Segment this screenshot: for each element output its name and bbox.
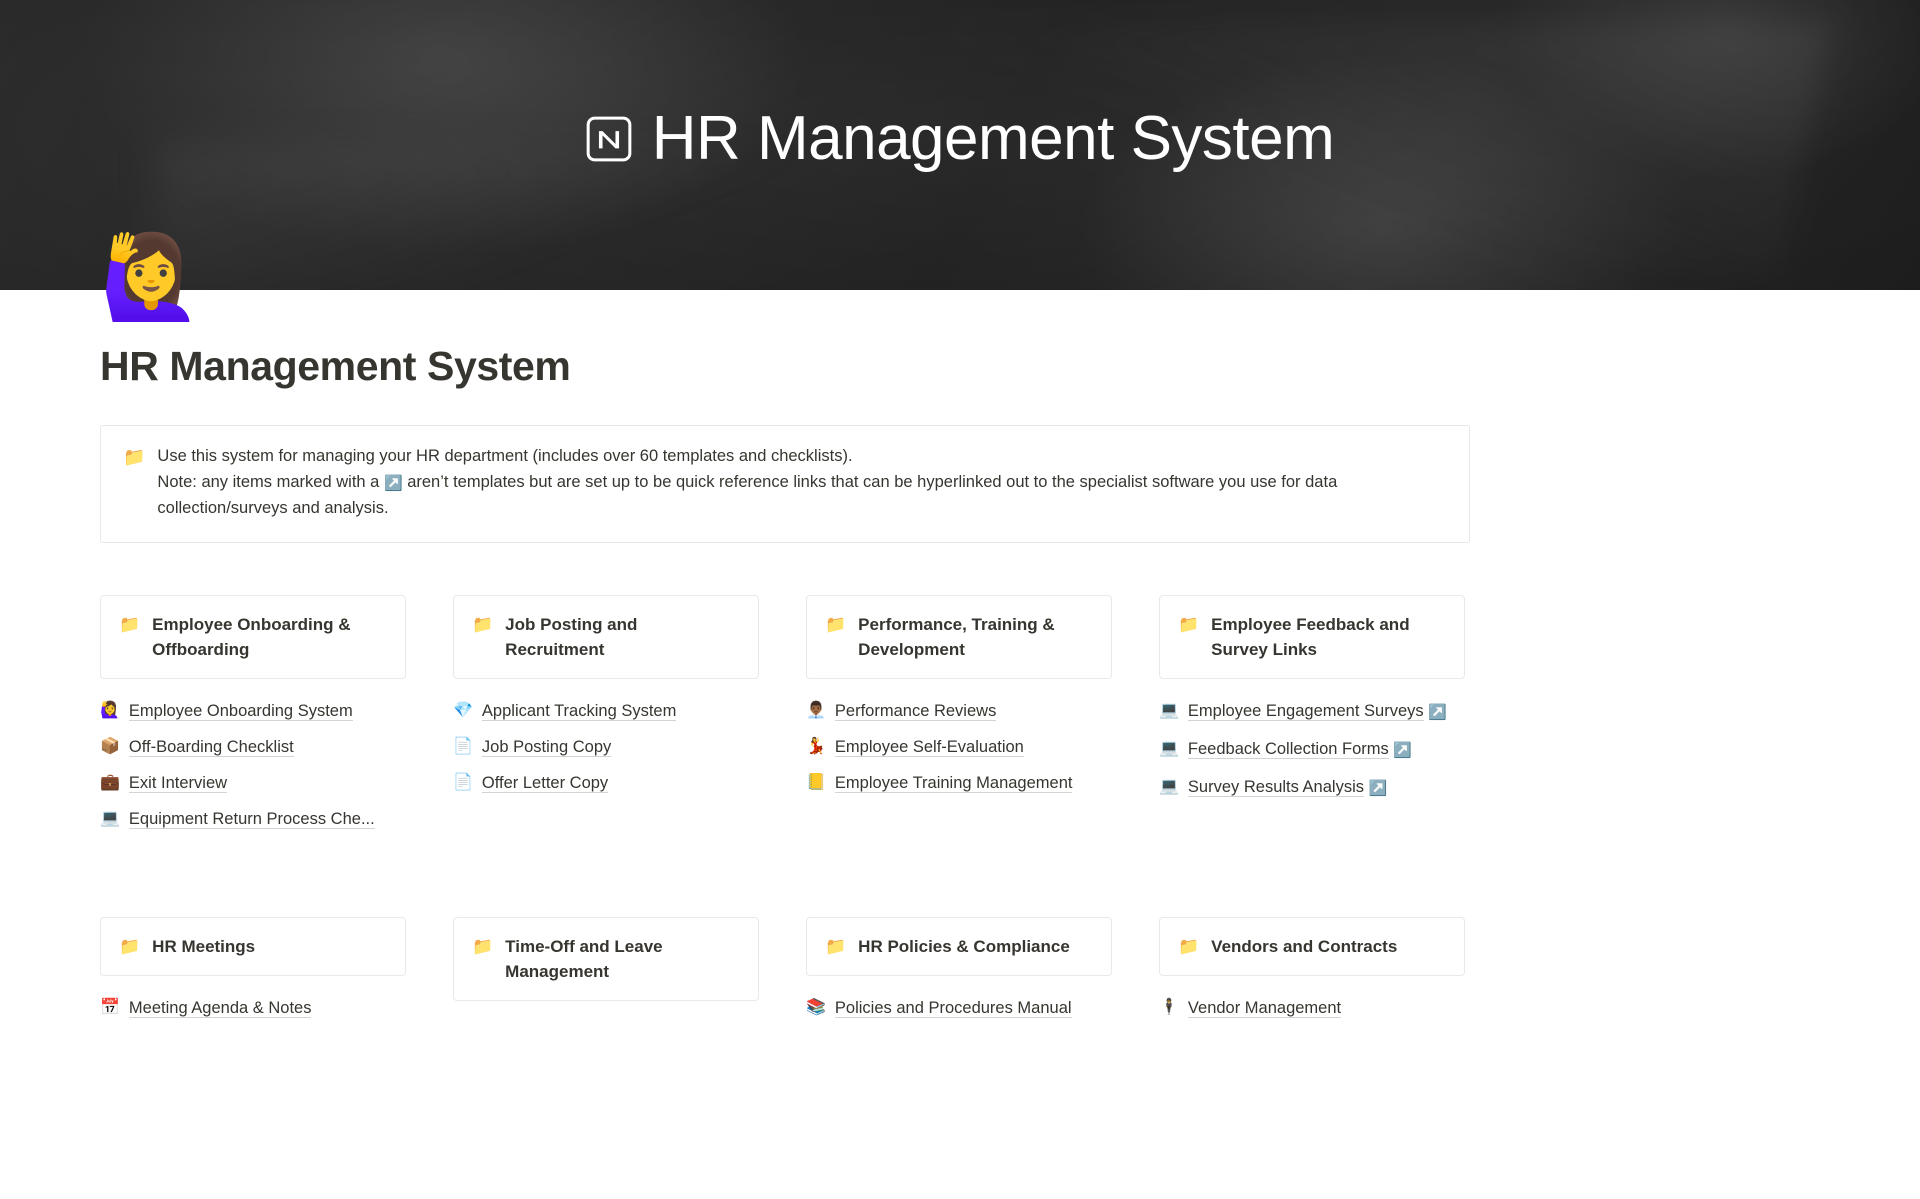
- link-label-holder: Equipment Return Process Che...: [129, 807, 375, 831]
- section-card-title: Job Posting and Recruitment: [505, 612, 740, 662]
- section-column: 📁Vendors and Contracts🕴️Vendor Managemen…: [1159, 917, 1465, 1021]
- up-right-arrow-emoji: ↗️: [1393, 742, 1412, 759]
- section-column: 📁Time-Off and Leave Management: [453, 917, 759, 1021]
- page-cover[interactable]: HR Management System: [0, 0, 1920, 290]
- section-link-list: 🙋‍♀️Employee Onboarding System📦Off-Board…: [100, 699, 406, 831]
- list-item[interactable]: 💼Exit Interview: [100, 771, 406, 795]
- cover-title: HR Management System: [652, 108, 1335, 170]
- gem-emoji: 💎: [453, 699, 473, 723]
- list-item[interactable]: 👨🏾‍💼Performance Reviews: [806, 699, 1112, 723]
- cover-title-group: HR Management System: [0, 108, 1920, 170]
- laptop-emoji: 💻: [1159, 737, 1179, 761]
- link-label-holder: Employee Training Management: [835, 771, 1073, 795]
- intro-callout: 📁 Use this system for managing your HR d…: [100, 425, 1470, 543]
- briefcase-emoji: 💼: [100, 771, 120, 795]
- link-label-holder: Offer Letter Copy: [482, 771, 608, 795]
- callout-text: Use this system for managing your HR dep…: [157, 444, 1447, 522]
- list-item[interactable]: 💻Equipment Return Process Che...: [100, 807, 406, 831]
- page-link[interactable]: Off-Boarding Checklist: [129, 738, 294, 757]
- books-emoji: 📚: [806, 996, 826, 1020]
- section-card[interactable]: 📁HR Policies & Compliance: [806, 917, 1112, 976]
- grid-row-spacer: [100, 831, 1465, 917]
- list-item[interactable]: 📒Employee Training Management: [806, 771, 1112, 795]
- page-link[interactable]: Performance Reviews: [835, 702, 996, 721]
- list-item[interactable]: 📄Job Posting Copy: [453, 735, 759, 759]
- page-link[interactable]: Exit Interview: [129, 774, 227, 793]
- section-card-title: HR Meetings: [152, 934, 255, 959]
- notion-page: HR Management System 🙋‍♀️ HR Management …: [0, 0, 1920, 1199]
- page-link[interactable]: Applicant Tracking System: [482, 702, 676, 721]
- link-label-holder: Applicant Tracking System: [482, 699, 676, 723]
- dancer-emoji: 💃: [806, 735, 826, 759]
- link-label-holder: Feedback Collection Forms ↗️: [1188, 737, 1412, 763]
- ledger-emoji: 📒: [806, 771, 826, 795]
- section-column: 📁Employee Feedback and Survey Links💻Empl…: [1159, 595, 1465, 831]
- link-label-holder: Exit Interview: [129, 771, 227, 795]
- list-item[interactable]: 🙋‍♀️Employee Onboarding System: [100, 699, 406, 723]
- link-label-holder: Off-Boarding Checklist: [129, 735, 294, 759]
- section-card[interactable]: 📁Performance, Training & Development: [806, 595, 1112, 679]
- section-card-title: Performance, Training & Development: [858, 612, 1093, 662]
- list-item[interactable]: 💻Employee Engagement Surveys ↗️: [1159, 699, 1465, 725]
- up-right-arrow-emoji: ↗️: [1369, 780, 1388, 797]
- laptop-emoji: 💻: [1159, 775, 1179, 799]
- page-link[interactable]: Offer Letter Copy: [482, 774, 608, 793]
- laptop-emoji: 💻: [100, 807, 120, 831]
- link-label-holder: Performance Reviews: [835, 699, 996, 723]
- link-label-holder: Meeting Agenda & Notes: [129, 996, 312, 1020]
- link-label-holder: Employee Onboarding System: [129, 699, 353, 723]
- link-label-holder: Policies and Procedures Manual: [835, 996, 1072, 1020]
- package-emoji: 📦: [100, 735, 120, 759]
- link-label-holder: Survey Results Analysis ↗️: [1188, 775, 1387, 801]
- section-link-list: 🕴️Vendor Management: [1159, 996, 1465, 1020]
- page-link[interactable]: Employee Training Management: [835, 774, 1073, 793]
- folder-emoji: 📁: [472, 612, 493, 637]
- section-card[interactable]: 📁Vendors and Contracts: [1159, 917, 1465, 976]
- page-link[interactable]: Vendor Management: [1188, 999, 1341, 1018]
- section-link-list: 💻Employee Engagement Surveys ↗️💻Feedback…: [1159, 699, 1465, 801]
- link-label-holder: Employee Self-Evaluation: [835, 735, 1024, 759]
- list-item[interactable]: 📄Offer Letter Copy: [453, 771, 759, 795]
- page-link[interactable]: Survey Results Analysis: [1188, 778, 1364, 797]
- callout-line-1: Use this system for managing your HR dep…: [157, 444, 1447, 470]
- folder-emoji: 📁: [1178, 612, 1199, 637]
- list-item[interactable]: 📅Meeting Agenda & Notes: [100, 996, 406, 1020]
- section-card-title: Employee Onboarding & Offboarding: [152, 612, 387, 662]
- section-card[interactable]: 📁HR Meetings: [100, 917, 406, 976]
- page-link[interactable]: Feedback Collection Forms: [1188, 740, 1389, 759]
- section-column: 📁Job Posting and Recruitment💎Applicant T…: [453, 595, 759, 831]
- page-link[interactable]: Employee Self-Evaluation: [835, 738, 1024, 757]
- folder-emoji: 📁: [123, 444, 145, 470]
- section-grid: 📁Employee Onboarding & Offboarding🙋‍♀️Em…: [100, 595, 1470, 1021]
- up-right-arrow-emoji: ↗️: [1428, 704, 1447, 721]
- list-item[interactable]: 💻Survey Results Analysis ↗️: [1159, 775, 1465, 801]
- callout-note-prefix: Note: any items marked with a: [157, 473, 384, 491]
- link-label-holder: Job Posting Copy: [482, 735, 611, 759]
- office-worker-emoji: 👨🏾‍💼: [806, 699, 826, 723]
- laptop-emoji: 💻: [1159, 699, 1179, 723]
- list-item[interactable]: 📦Off-Boarding Checklist: [100, 735, 406, 759]
- section-column: 📁HR Meetings📅Meeting Agenda & Notes: [100, 917, 406, 1021]
- section-link-list: 👨🏾‍💼Performance Reviews💃Employee Self-Ev…: [806, 699, 1112, 795]
- folder-emoji: 📁: [119, 934, 140, 959]
- folder-emoji: 📁: [119, 612, 140, 637]
- folder-emoji: 📁: [825, 934, 846, 959]
- folder-emoji: 📁: [825, 612, 846, 637]
- folder-emoji: 📁: [1178, 934, 1199, 959]
- page-link[interactable]: Meeting Agenda & Notes: [129, 999, 312, 1018]
- page-link[interactable]: Job Posting Copy: [482, 738, 611, 757]
- list-item[interactable]: 🕴️Vendor Management: [1159, 996, 1465, 1020]
- page-emoji: 📄: [453, 771, 473, 795]
- calendar-emoji: 📅: [100, 996, 120, 1020]
- page-link[interactable]: Policies and Procedures Manual: [835, 999, 1072, 1018]
- folder-emoji: 📁: [472, 934, 493, 959]
- person-raising-hand-emoji: 🙋‍♀️: [100, 699, 120, 723]
- list-item[interactable]: 💎Applicant Tracking System: [453, 699, 759, 723]
- section-card-title: Employee Feedback and Survey Links: [1211, 612, 1446, 662]
- section-card[interactable]: 📁Job Posting and Recruitment: [453, 595, 759, 679]
- section-card-title: Time-Off and Leave Management: [505, 934, 740, 984]
- section-column: 📁Performance, Training & Development👨🏾‍💼…: [806, 595, 1112, 831]
- link-label-holder: Vendor Management: [1188, 996, 1341, 1020]
- section-link-list: 📚Policies and Procedures Manual: [806, 996, 1112, 1020]
- list-item[interactable]: 📚Policies and Procedures Manual: [806, 996, 1112, 1020]
- list-item[interactable]: 💻Feedback Collection Forms ↗️: [1159, 737, 1465, 763]
- page-title: HR Management System: [100, 342, 1470, 391]
- page-content: HR Management System 📁 Use this system f…: [0, 342, 1570, 1021]
- section-card[interactable]: 📁Employee Feedback and Survey Links: [1159, 595, 1465, 679]
- page-link[interactable]: Employee Engagement Surveys: [1188, 702, 1424, 721]
- section-link-list: 📅Meeting Agenda & Notes: [100, 996, 406, 1020]
- notion-logo-icon: [586, 116, 632, 162]
- section-card-title: HR Policies & Compliance: [858, 934, 1070, 959]
- person-in-suit-emoji: 🕴️: [1159, 996, 1179, 1020]
- list-item[interactable]: 💃Employee Self-Evaluation: [806, 735, 1112, 759]
- up-right-arrow-emoji: ↗️: [384, 475, 403, 492]
- section-card-title: Vendors and Contracts: [1211, 934, 1397, 959]
- page-link[interactable]: Equipment Return Process Che...: [129, 810, 375, 829]
- page-link[interactable]: Employee Onboarding System: [129, 702, 353, 721]
- section-link-list: 💎Applicant Tracking System📄Job Posting C…: [453, 699, 759, 795]
- section-card[interactable]: 📁Time-Off and Leave Management: [453, 917, 759, 1001]
- section-card[interactable]: 📁Employee Onboarding & Offboarding: [100, 595, 406, 679]
- page-icon-emoji[interactable]: 🙋‍♀️: [100, 232, 192, 324]
- link-label-holder: Employee Engagement Surveys ↗️: [1188, 699, 1447, 725]
- callout-line-2: Note: any items marked with a ↗️ aren’t …: [157, 470, 1447, 522]
- page-emoji: 📄: [453, 735, 473, 759]
- section-column: 📁Employee Onboarding & Offboarding🙋‍♀️Em…: [100, 595, 406, 831]
- section-column: 📁HR Policies & Compliance📚Policies and P…: [806, 917, 1112, 1021]
